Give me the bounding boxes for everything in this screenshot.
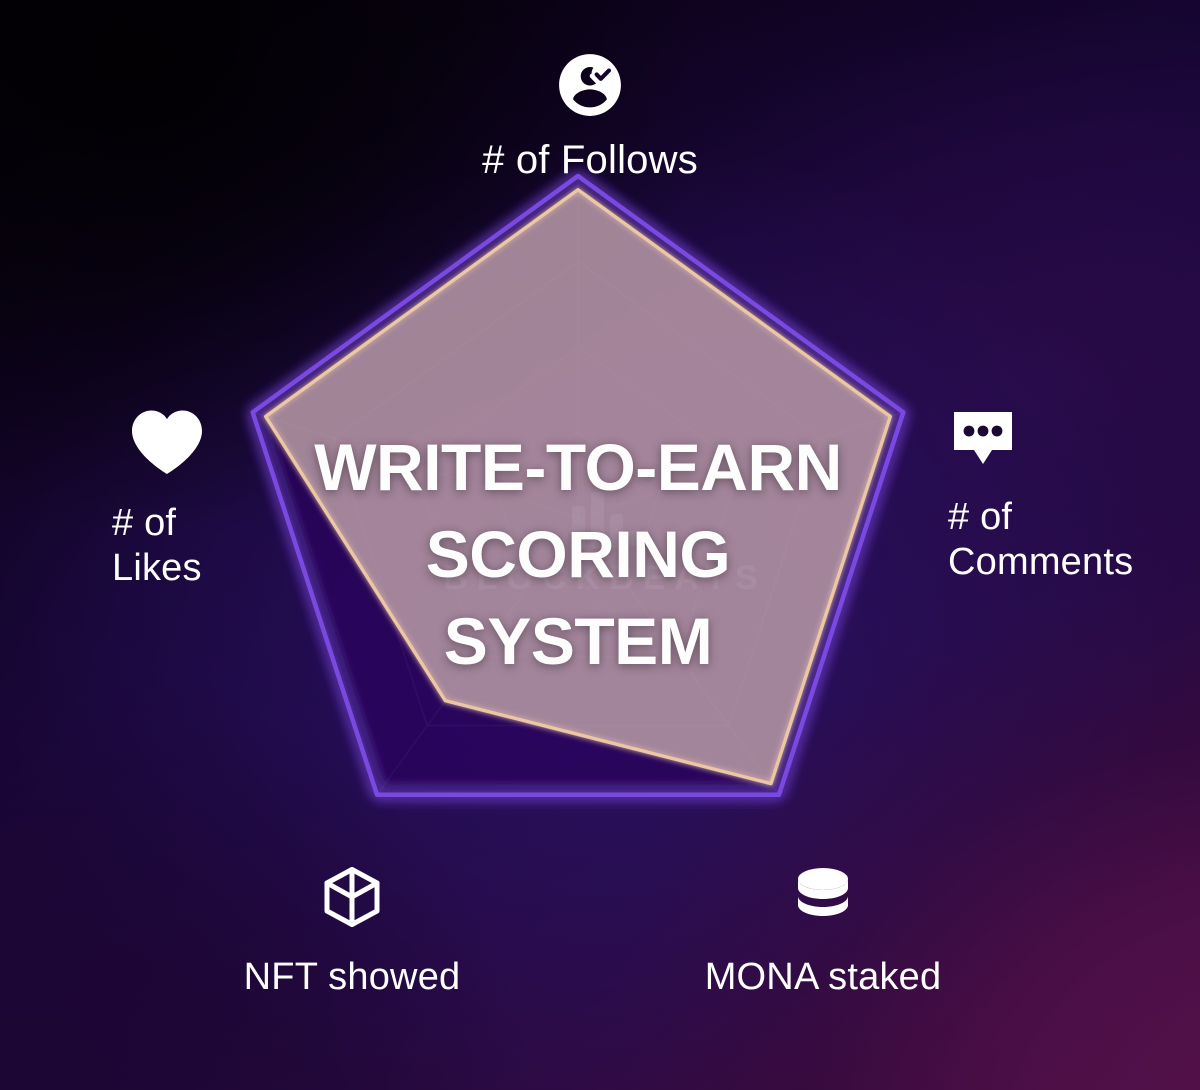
axis-label-mona-text: MONA staked — [705, 956, 942, 998]
axis-label-comments-text: # of Comments — [948, 496, 1133, 583]
axis-label-mona: MONA staked — [648, 866, 998, 1000]
coin-stack-icon — [648, 866, 998, 933]
axis-label-likes: # of Likes — [112, 408, 332, 591]
poster-canvas: BLOCKBEATS WRITE-TO-EARN SCORING SYSTEM … — [0, 0, 1200, 1090]
axis-label-nft: NFT showed — [182, 866, 522, 1000]
person-check-icon — [400, 52, 780, 123]
axis-label-comments: # of Comments — [948, 408, 1198, 585]
speech-bubble-dots-icon — [950, 408, 1198, 475]
cube-icon — [182, 866, 522, 933]
axis-label-follows: # of Follows — [400, 52, 780, 184]
axis-label-follows-text: # of Follows — [482, 138, 698, 182]
axis-label-nft-text: NFT showed — [244, 956, 461, 998]
axis-label-likes-text: # of Likes — [112, 502, 202, 589]
heart-icon — [130, 408, 332, 481]
